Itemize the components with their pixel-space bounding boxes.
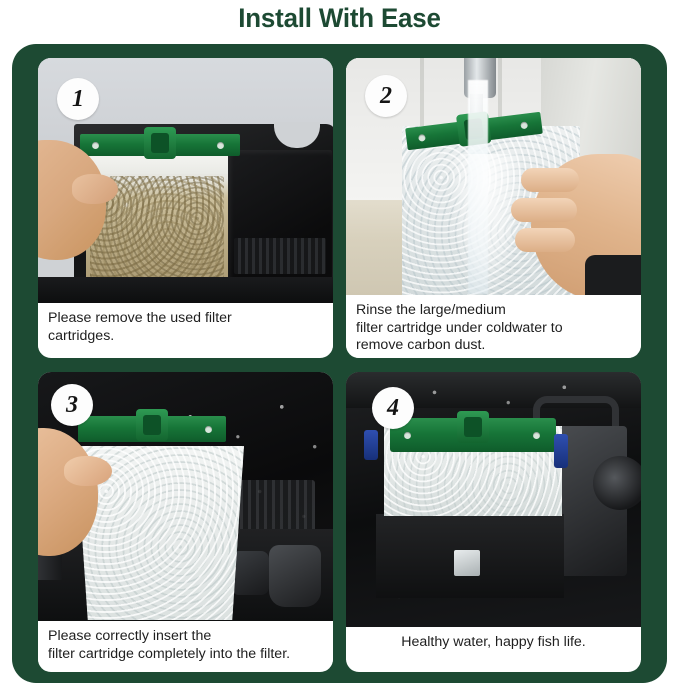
- step-4-photo: 4: [346, 372, 641, 627]
- step-card-1[interactable]: 1 Please remove the used filter cartridg…: [38, 58, 333, 358]
- cartridge-screw-right-1: [217, 142, 224, 149]
- impeller-icon: [593, 456, 641, 510]
- step-caption-3: Please correctly insert the filter cartr…: [38, 621, 333, 671]
- cartridge-clip-1: [144, 127, 176, 159]
- filter-knob-mid: [231, 551, 269, 595]
- steps-grid: 1 Please remove the used filter cartridg…: [38, 58, 641, 672]
- filter-grill-1: [234, 238, 326, 274]
- step-badge-1: 1: [57, 78, 99, 120]
- cartridge-green-bar-1: [80, 134, 240, 156]
- photo-1-foreground-shelf: [38, 277, 333, 303]
- filter-label-plate: [454, 550, 480, 576]
- step-badge-4: 4: [372, 387, 414, 429]
- step-2-photo: 2: [346, 58, 641, 295]
- step-card-4[interactable]: 4 Healthy water, happy fish life.: [346, 372, 641, 672]
- page-title: Install With Ease: [14, 2, 666, 34]
- step-caption-4: Healthy water, happy fish life.: [346, 627, 641, 660]
- blue-clip-left: [364, 430, 378, 460]
- cartridge-clip-3: [136, 409, 168, 441]
- step-badge-3: 3: [51, 384, 93, 426]
- cartridge-screw-right-4: [533, 432, 540, 439]
- cartridge-green-bar-3: [78, 416, 226, 442]
- cartridge-screw-left-4: [404, 432, 411, 439]
- step-caption-2: Rinse the large/medium filter cartridge …: [346, 295, 641, 358]
- cartridge-green-bar-4: [390, 418, 556, 452]
- photo-2-corner-shadow: [585, 255, 641, 295]
- filter-knob-right: [269, 545, 321, 607]
- step-card-2[interactable]: 2 Rinse the large/medium filter cartridg…: [346, 58, 641, 358]
- step-caption-1: Please remove the used filter cartridges…: [38, 303, 333, 353]
- cartridge-screw-left-2: [418, 133, 426, 141]
- cartridge-screw-right-3: [205, 426, 212, 433]
- cartridge-screw-right-2: [520, 121, 528, 129]
- step-badge-2: 2: [365, 75, 407, 117]
- finger-1: [521, 168, 579, 192]
- step-card-3[interactable]: 3 Please correctly insert the filter car…: [38, 372, 333, 672]
- finger-3: [515, 228, 575, 252]
- blue-clip-right: [554, 434, 568, 468]
- finger-2: [511, 198, 577, 222]
- cartridge-clip-4: [457, 411, 489, 443]
- infographic-root: Install With Ease 1: [0, 0, 679, 688]
- step-3-photo: 3: [38, 372, 333, 621]
- water-splash: [450, 154, 524, 294]
- cartridge-screw-left-1: [92, 142, 99, 149]
- step-1-photo: 1: [38, 58, 333, 303]
- green-frame-panel: 1 Please remove the used filter cartridg…: [12, 44, 667, 683]
